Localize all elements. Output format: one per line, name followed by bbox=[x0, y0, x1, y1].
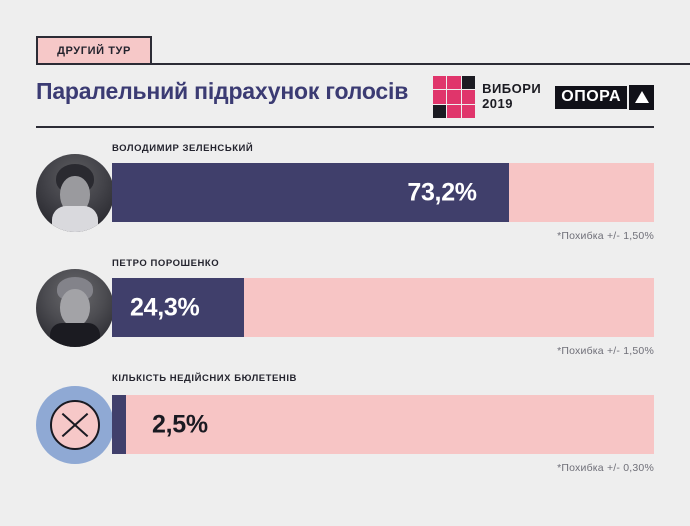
bar-value-label: 73,2% bbox=[407, 178, 476, 207]
opora-triangle-icon bbox=[629, 85, 654, 110]
result-row: ВОЛОДИМИР ЗЕЛЕНСЬКИЙ 73,2% *Похибка +/- … bbox=[0, 140, 690, 250]
result-row: ПЕТРО ПОРОШЕНКО 24,3% *Похибка +/- 1,50% bbox=[0, 255, 690, 365]
bar-fill: 24,3% bbox=[112, 278, 244, 337]
margin-of-error-note: *Похибка +/- 1,50% bbox=[557, 345, 654, 357]
round-badge: ДРУГИЙ ТУР bbox=[36, 36, 152, 65]
avatar bbox=[36, 154, 114, 232]
candidate-name: ПЕТРО ПОРОШЕНКО bbox=[112, 258, 219, 269]
bar-track: 24,3% bbox=[112, 278, 654, 337]
vybory-logo-word: ВИБОРИ bbox=[482, 82, 541, 97]
bar-track: 73,2% bbox=[112, 163, 654, 222]
header-bottom-rule bbox=[36, 126, 654, 128]
bar-track: 2,5% bbox=[112, 395, 654, 454]
result-row: КІЛЬКІСТЬ НЕДІЙСНИХ БЮЛЕТЕНІВ 2,5% *Похи… bbox=[0, 370, 690, 485]
margin-of-error-note: *Похибка +/- 0,30% bbox=[557, 462, 654, 474]
header-top-rule bbox=[152, 63, 690, 65]
bar-fill: 73,2% bbox=[112, 163, 509, 222]
opora-logo: ОПОРА bbox=[555, 85, 654, 110]
opora-logo-word: ОПОРА bbox=[555, 86, 627, 109]
bar-value-label: 2,5% bbox=[152, 410, 208, 439]
invalid-ballot-icon bbox=[36, 386, 114, 464]
round-badge-label: ДРУГИЙ ТУР bbox=[57, 45, 131, 57]
vybory-2019-logo: ВИБОРИ 2019 bbox=[433, 76, 541, 118]
margin-of-error-note: *Похибка +/- 1,50% bbox=[557, 230, 654, 242]
vybory-logo-year: 2019 bbox=[482, 97, 541, 112]
bar-fill bbox=[112, 395, 126, 454]
page-title: Паралельний підрахунок голосів bbox=[36, 78, 408, 105]
logo-group: ВИБОРИ 2019 ОПОРА bbox=[433, 76, 654, 118]
grid-squares-icon bbox=[433, 76, 475, 118]
badge-row: ДРУГИЙ ТУР bbox=[36, 36, 654, 66]
bar-value-label: 24,3% bbox=[130, 293, 199, 322]
candidate-name: ВОЛОДИМИР ЗЕЛЕНСЬКИЙ bbox=[112, 143, 253, 154]
vybory-logo-text: ВИБОРИ 2019 bbox=[482, 82, 541, 112]
avatar bbox=[36, 269, 114, 347]
title-row: Паралельний підрахунок голосів ВИБОРИ 20… bbox=[36, 74, 654, 126]
category-name: КІЛЬКІСТЬ НЕДІЙСНИХ БЮЛЕТЕНІВ bbox=[112, 373, 297, 384]
